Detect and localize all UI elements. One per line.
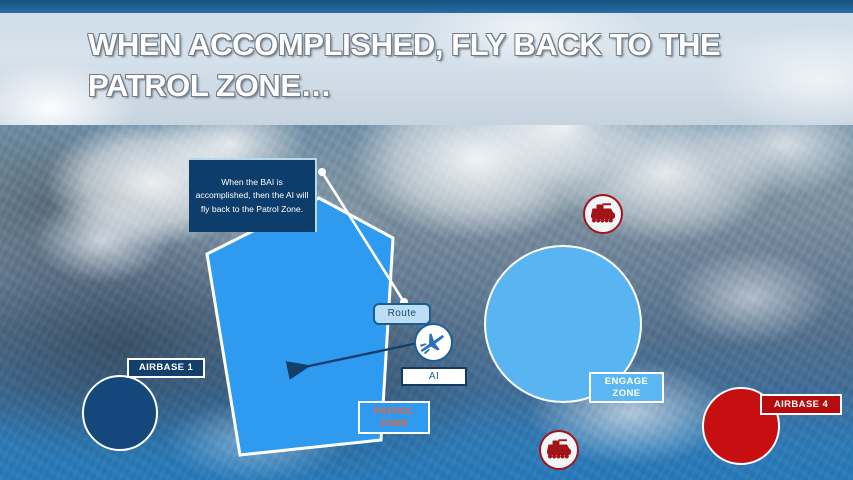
ai-label[interactable]: AI	[401, 367, 467, 386]
route-label-text: Route	[388, 308, 417, 320]
aircraft-marker[interactable]	[414, 323, 453, 362]
enemy-unit-marker-2[interactable]	[539, 430, 579, 470]
airbase-4-label[interactable]: AIRBASE 4	[760, 394, 842, 415]
patrol-zone-label[interactable]: PATROL ZONE	[358, 401, 430, 434]
fighter-jet-icon	[414, 323, 453, 362]
tank-icon	[539, 430, 579, 470]
patrol-zone-label-line1: PATROL	[374, 406, 414, 417]
ai-label-text: AI	[429, 371, 439, 383]
callout-box: When the BAI is accomplished, then the A…	[189, 158, 317, 232]
engage-zone-label-line2: ZONE	[613, 388, 641, 399]
engage-zone-label[interactable]: ENGAGE ZONE	[589, 372, 664, 403]
callout-text: When the BAI is accomplished, then the A…	[195, 176, 309, 215]
airbase-1-label[interactable]: AIRBASE 1	[127, 358, 205, 378]
engage-zone-label-line1: ENGAGE	[605, 376, 649, 387]
top-sky-strip	[0, 0, 853, 13]
title-band-haze	[0, 13, 853, 125]
patrol-zone-label-line2: ZONE	[380, 418, 408, 429]
airbase-4-label-text: AIRBASE 4	[774, 399, 828, 410]
route-label[interactable]: Route	[373, 303, 431, 325]
slide-canvas: WHEN ACCOMPLISHED, FLY BACK TO THE PATRO…	[0, 0, 853, 480]
enemy-unit-marker-1[interactable]	[583, 194, 623, 234]
airbase-1-label-text: AIRBASE 1	[139, 362, 193, 373]
title-band	[0, 13, 853, 125]
tank-icon	[583, 194, 623, 234]
airbase-1-shape	[82, 375, 158, 451]
